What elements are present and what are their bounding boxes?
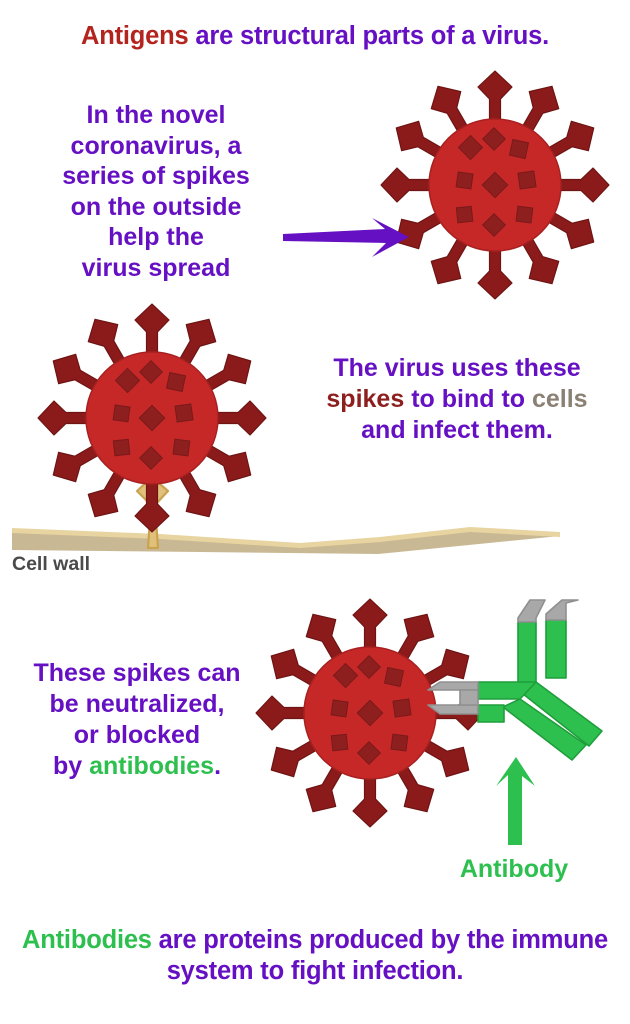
antibody-icon xyxy=(428,600,602,760)
arrow-up-green-icon xyxy=(496,757,535,845)
headline-antigens-word: Antigens xyxy=(81,22,189,50)
neutralize-line-3: or blocked xyxy=(6,720,268,751)
intro-line-6: virus spread xyxy=(32,253,280,284)
arrow-right-purple-icon xyxy=(283,218,409,257)
bind-paragraph: The virus uses these spikes to bind to c… xyxy=(288,353,626,446)
neutralize-line-4: by antibodies. xyxy=(6,751,268,782)
page-title: Antigens are structural parts of a virus… xyxy=(0,22,630,51)
intro-line-4: on the outside xyxy=(32,192,280,223)
neutralize-antibodies-word: antibodies xyxy=(89,752,214,780)
bind-line-2: spikes to bind to cells xyxy=(288,384,626,415)
infographic-canvas: Antigens are structural parts of a virus… xyxy=(0,0,630,1024)
cell-wall-label: Cell wall xyxy=(12,553,90,575)
bind-cells-word: cells xyxy=(532,385,588,413)
virus-bottom-icon xyxy=(256,599,484,827)
neutralize-line-1: These spikes can xyxy=(6,658,268,689)
cell-receptor-icon xyxy=(137,477,168,548)
intro-line-2: coronavirus, a xyxy=(32,131,280,162)
headline-rest: are structural parts of a virus. xyxy=(189,22,549,50)
bind-line-1: The virus uses these xyxy=(288,353,626,384)
intro-line-5: help the xyxy=(32,222,280,253)
cell-wall-icon xyxy=(12,527,560,554)
intro-line-3: series of spikes xyxy=(32,161,280,192)
virus-top-icon xyxy=(381,71,609,299)
intro-line-1: In the novel xyxy=(32,100,280,131)
footer-paragraph: Antibodies are proteins produced by the … xyxy=(0,925,630,987)
intro-paragraph: In the novel coronavirus, a series of sp… xyxy=(32,100,280,283)
neutralize-line-2: be neutralized, xyxy=(6,689,268,720)
neutralize-line4-pre: by xyxy=(53,752,89,780)
neutralize-line4-post: . xyxy=(214,752,221,780)
footer-antibodies-word: Antibodies xyxy=(22,926,152,954)
bind-line-3: and infect them. xyxy=(288,415,626,446)
virus-middle-icon xyxy=(38,304,266,532)
bind-line2-mid: to bind to xyxy=(404,385,532,413)
antibody-label: Antibody xyxy=(398,855,630,884)
bind-spikes-word: spikes xyxy=(326,385,404,413)
footer-rest: are proteins produced by the immune syst… xyxy=(152,926,608,985)
neutralize-paragraph: These spikes can be neutralized, or bloc… xyxy=(6,658,268,782)
